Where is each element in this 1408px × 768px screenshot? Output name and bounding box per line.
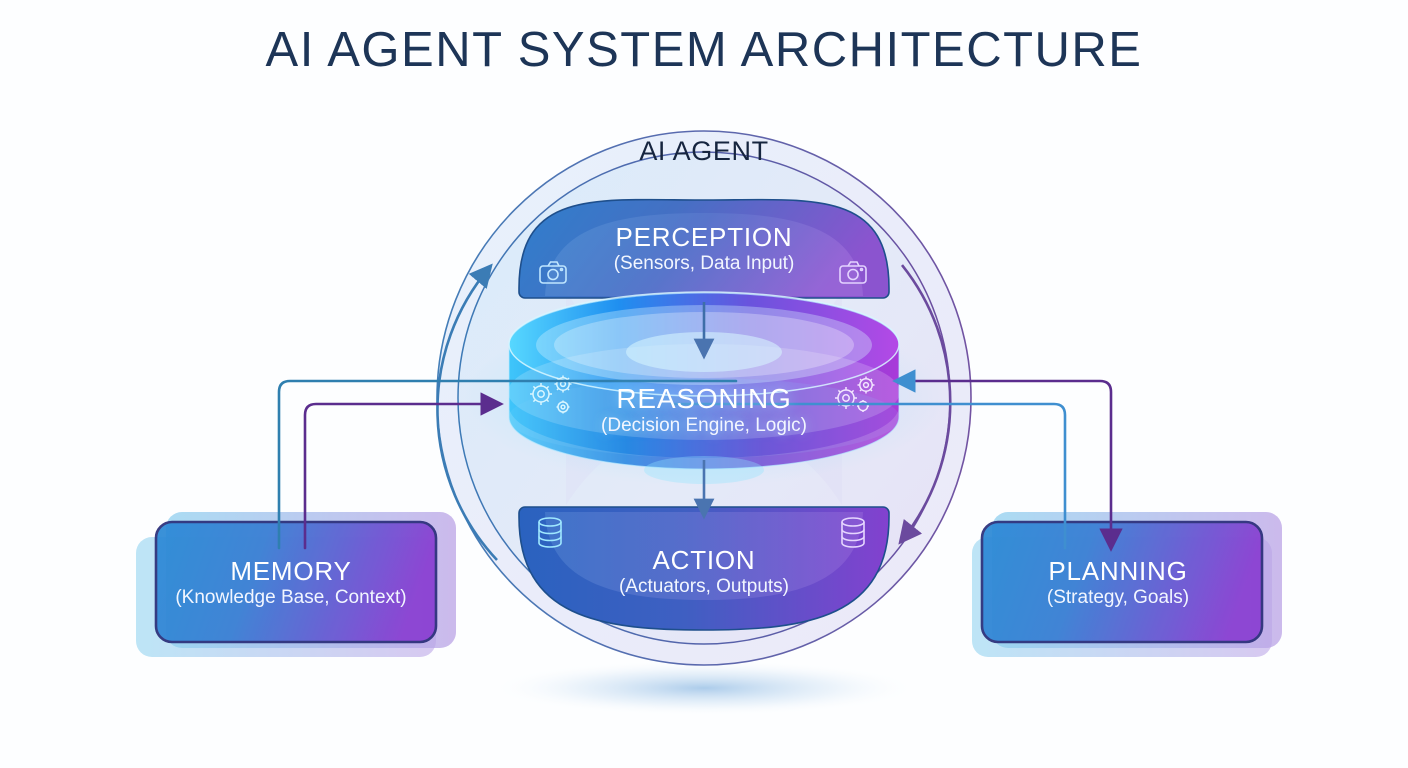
architecture-diagram-svg [0,0,1408,768]
perception-node[interactable] [519,200,889,298]
planning-box[interactable] [972,512,1282,657]
memory-box[interactable] [136,512,456,657]
circle-ground-shadow [489,660,919,716]
diagram-canvas: AI AGENT SYSTEM ARCHITECTURE AI AGENT PE… [0,0,1408,768]
action-node[interactable] [519,507,889,630]
